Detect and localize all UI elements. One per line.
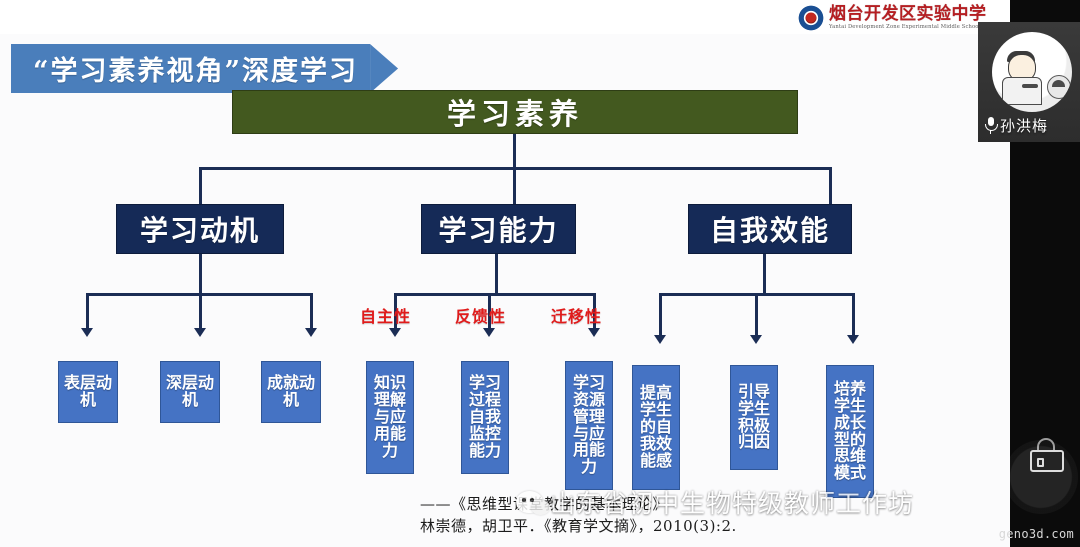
video-participant-tile[interactable]: 孙洪梅 [978,22,1080,142]
arrow-b1-3 [305,328,317,337]
arrow-b2-2 [483,328,495,337]
node-label: 提高学生的自我效能感 [635,385,677,470]
hierarchy-diagram: 学习素养 学习动机 学习能力 自我效能 [0,0,1010,513]
connector-b1-stem [199,254,202,293]
screen-root: 烟台开发区实验中学 Yantai Development Zone Experi… [0,0,1080,547]
microphone-stem [990,130,992,134]
arrow-b3-2 [750,335,762,344]
presentation-slide: 烟台开发区实验中学 Yantai Development Zone Experi… [0,0,1010,547]
connector-b1-drop-1 [86,293,89,330]
avatar-arm [1022,84,1038,88]
arrow-b2-3 [588,328,600,337]
avatar-body [1002,77,1042,105]
diagram-leaf-7: 提高学生的自我效能感 [632,365,680,490]
node-label: 深层动机 [163,375,217,409]
connector-b3-drop-2 [755,293,758,337]
diagram-leaf-2: 深层动机 [160,361,220,423]
arrow-b1-1 [81,328,93,337]
node-label: 学习资源管理与应用能力 [568,375,610,477]
node-label: 学习动机 [140,209,260,249]
connector-b2-stem [495,254,498,293]
avatar-icon [992,32,1072,112]
citation-line-2: 林崇德，胡卫平．《教育学文摘》，2010(3):2. [420,516,940,538]
diagram-leaf-4: 知识理解与应用能力 [366,361,414,474]
node-label: 知识理解与应用能力 [369,375,411,460]
avatar-secondary-figure [1047,75,1071,99]
microphone-icon[interactable] [984,117,997,134]
diagram-leaf-1: 表层动机 [58,361,118,423]
participant-name: 孙洪梅 [1000,115,1048,136]
citation-line-1: ——《思维型课堂教学的基本理论》 [420,494,940,516]
red-label-feedback: 反馈性 [455,303,506,327]
participant-name-row: 孙洪梅 [984,115,1048,136]
node-label: 学习过程自我监控能力 [464,375,506,460]
diagram-leaf-9: 培养学生成长型的思维模式 [826,365,874,498]
brand-ring [1004,440,1078,514]
node-label: 引导学生积极归因 [733,384,775,452]
citation-block: ——《思维型课堂教学的基本理论》 林崇德，胡卫平．《教育学文摘》，2010(3)… [420,494,940,538]
diagram-leaf-6: 学习资源管理与应用能力 [565,361,613,490]
diagram-node-root: 学习素养 [232,90,798,134]
node-label: 成就动机 [264,375,318,409]
diagram-node-level2-1: 学习动机 [116,204,284,254]
connector-b3-drop-3 [852,293,855,337]
node-label: 学习素养 [447,91,583,133]
connector-b1-drop-2 [199,293,202,330]
arrow-b2-1 [389,328,401,337]
node-label: 表层动机 [61,375,115,409]
node-label: 自我效能 [710,209,830,249]
arrow-b3-3 [847,335,859,344]
connector-b3-drop-1 [659,293,662,337]
connector-b3-stem [763,254,766,293]
diagram-leaf-5: 学习过程自我监控能力 [461,361,509,474]
connector-b1-drop-3 [310,293,313,330]
diagram-leaf-3: 成就动机 [261,361,321,423]
red-label-transfer: 迁移性 [551,303,602,327]
diagram-node-level2-3: 自我效能 [688,204,852,254]
diagram-node-level2-2: 学习能力 [421,204,576,254]
diagram-leaf-8: 引导学生积极归因 [730,365,778,470]
arrow-b1-2 [194,328,206,337]
red-label-autonomy: 自主性 [360,303,411,327]
connector-root-stem [513,134,516,167]
node-label: 培养学生成长型的思维模式 [829,381,871,483]
arrow-b3-1 [654,335,666,344]
node-label: 学习能力 [438,209,558,249]
microphone-arc [985,124,998,131]
connector-b2-bar [394,293,596,296]
brand-watermark: geno3d.com [999,527,1074,541]
